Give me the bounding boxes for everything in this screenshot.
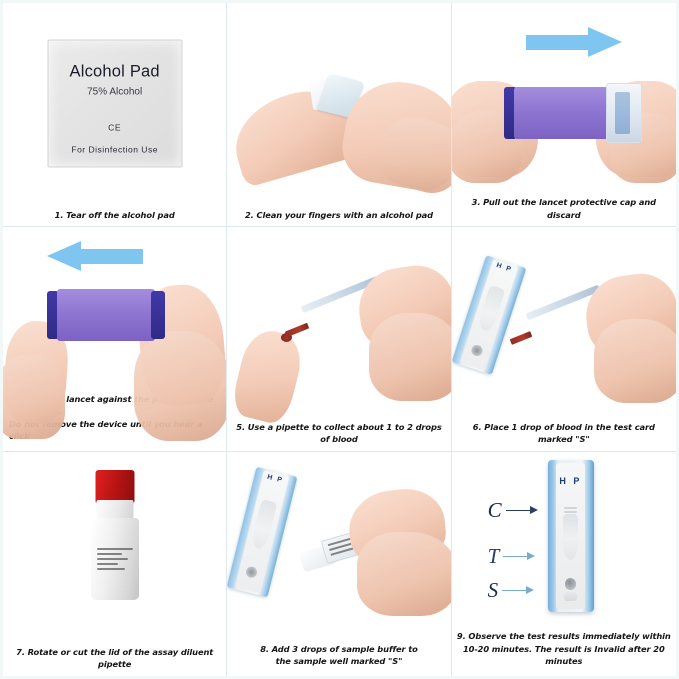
arrow-to-sample-icon [502,585,534,595]
step-1-illustration: Alcohol Pad 75% Alcohol CE For Disinfect… [3,3,226,209]
step-8-caption-line-1: 8. Add 3 drops of sample buffer to [232,643,445,656]
arrow-left-icon [47,241,143,271]
step-3-illustration [452,3,676,196]
step-panel-2: 2. Clean your fingers with an alcohol pa… [227,3,451,227]
fingers-right [369,313,452,401]
step-6-caption: 6. Place 1 drop of blood in the test car… [452,421,676,451]
lancet-body [57,289,155,341]
step-panel-5: 5. Use a pipette to collect about 1 to 2… [227,227,451,451]
pipette-tip-blood [509,331,532,345]
step-2-caption: 2. Clean your fingers with an alcohol pa… [227,209,450,227]
step-1-caption: 1. Tear off the alcohol pad [3,209,226,227]
step-9-caption: 9. Observe the test results immediately … [452,630,676,676]
lancet-end-right [151,291,165,339]
hand-left-lower [3,355,65,439]
step-panel-8: H P 8. Add 3 drops of sample buffer to t… [227,452,451,676]
step-8-caption-line-2: the sample well marked "S" [232,655,445,668]
marker-control: C [488,498,538,523]
step-panel-1: Alcohol Pad 75% Alcohol CE For Disinfect… [3,3,227,227]
step-panel-7: 7. Rotate or cut the lid of the assay di… [3,452,227,676]
step-5-illustration [227,227,450,420]
step-9-caption-line-2: 10-20 minutes. The result is Invalid aft… [457,643,671,668]
step-panel-4: 4. Press the lancet against the puncture… [3,227,227,451]
marker-test: T [488,544,536,569]
arrow-to-test-icon [503,551,535,561]
thumb-right [134,331,227,441]
step-7-illustration [3,452,226,646]
test-cassette: H P [452,256,526,375]
assay-diluent-bottle [91,518,139,600]
step-8-caption: 8. Add 3 drops of sample buffer to the s… [227,643,450,676]
instruction-grid: Alcohol Pad 75% Alcohol CE For Disinfect… [3,3,676,676]
ce-mark: CE [48,122,181,132]
bottle-label [97,548,133,571]
step-8-illustration: H P [227,452,450,643]
step-9-caption-line-1: 9. Observe the test results immediately … [457,630,671,643]
arrow-right-icon [526,27,622,57]
step-3-caption: 3. Pull out the lancet protective cap an… [452,196,676,226]
fingers-right [357,532,452,616]
arrow-to-control-icon [506,505,538,515]
step-panel-6: H P 6. Place 1 drop of blood in the test… [452,227,676,451]
marker-sample: S [488,578,535,603]
step-panel-3: 3. Pull out the lancet protective cap an… [452,3,676,227]
alcohol-pad-concentration: 75% Alcohol [48,86,181,97]
bottle-cap [95,470,134,503]
alcohol-pad-usage: For Disinfection Use [48,144,181,154]
cassette-label: H P [548,476,594,486]
marker-letter-s: S [488,578,499,603]
step-5-caption: 5. Use a pipette to collect about 1 to 2… [227,421,450,451]
step-4-illustration [3,227,226,392]
instruction-sheet: Alcohol Pad 75% Alcohol CE For Disinfect… [0,0,679,679]
marker-letter-c: C [488,498,502,523]
alcohol-pad-brand: Alcohol Pad [48,62,181,81]
step-7-caption: 7. Rotate or cut the lid of the assay di… [3,646,226,676]
step-6-illustration: H P [452,227,676,420]
lancet-protective-cap [606,83,642,143]
step-2-illustration [227,3,450,209]
step-9-illustration: H P C T [452,452,676,631]
fingers-right [594,319,676,403]
test-cassette-vertical: H P [548,460,594,612]
alcohol-pad-sachet: Alcohol Pad 75% Alcohol CE For Disinfect… [47,39,182,167]
pipette-tip-blood [285,323,310,338]
step-panel-9: H P C T [452,452,676,676]
marker-letter-t: T [488,544,500,569]
test-cassette: H P [227,466,297,596]
finger-with-blood [229,326,307,427]
lancet-body [514,87,610,139]
